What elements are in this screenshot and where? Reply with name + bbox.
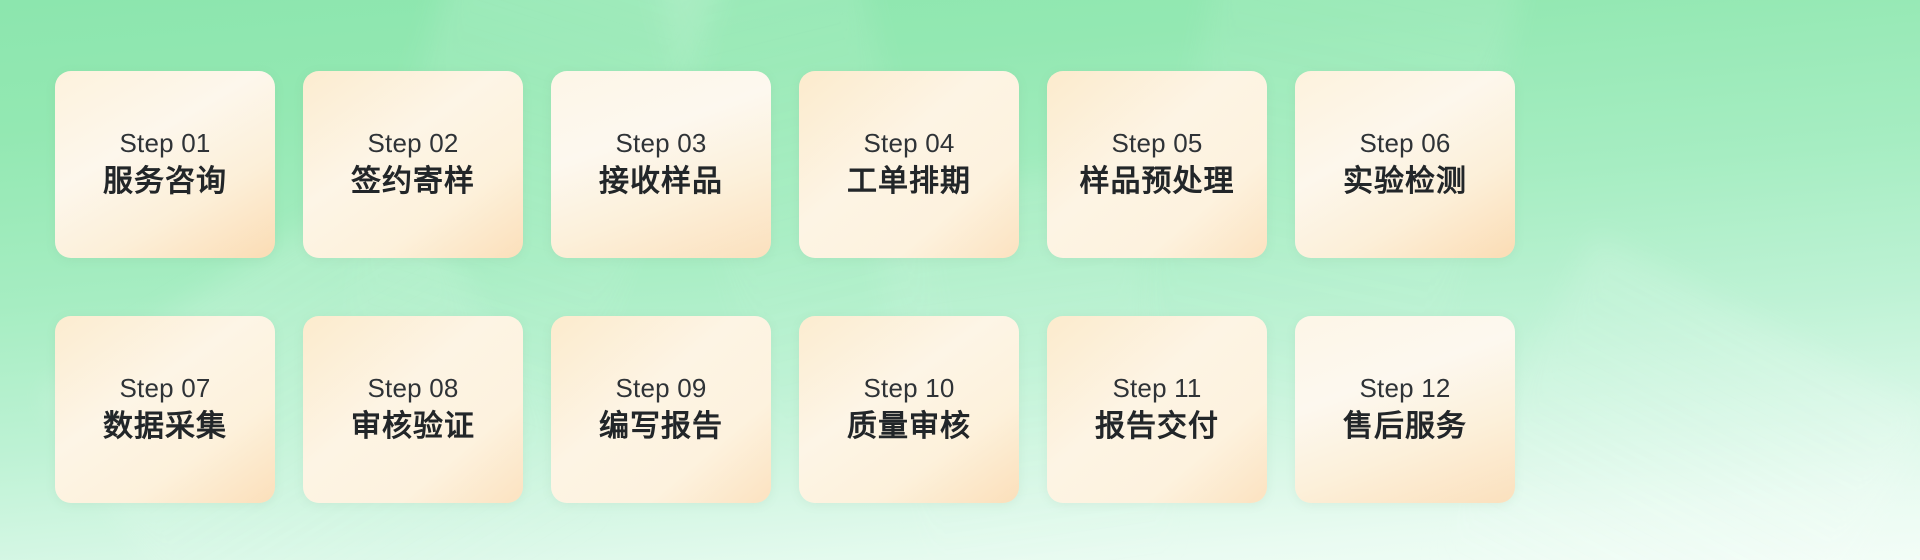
- step-number-label: Step 02: [367, 129, 458, 159]
- step-number-label: Step 04: [863, 129, 954, 159]
- step-card-11[interactable]: Step 11 报告交付: [1047, 316, 1267, 503]
- step-number-label: Step 03: [615, 129, 706, 159]
- step-title-label: 实验检测: [1343, 164, 1467, 200]
- step-number-label: Step 10: [863, 374, 954, 404]
- step-card-02[interactable]: Step 02 签约寄样: [303, 71, 523, 258]
- step-title-label: 报告交付: [1095, 409, 1219, 445]
- step-title-label: 编写报告: [599, 409, 723, 445]
- step-title-label: 质量审核: [847, 409, 971, 445]
- step-number-label: Step 09: [615, 374, 706, 404]
- step-card-06[interactable]: Step 06 实验检测: [1295, 71, 1515, 258]
- step-title-label: 工单排期: [847, 164, 971, 200]
- step-number-label: Step 05: [1111, 129, 1202, 159]
- step-title-label: 服务咨询: [103, 164, 227, 200]
- step-title-label: 数据采集: [103, 409, 227, 445]
- step-flow-stage: Step 01 服务咨询 Step 02 签约寄样 Step 03 接收样品 S…: [0, 0, 1920, 560]
- step-title-label: 审核验证: [351, 409, 475, 445]
- step-card-03[interactable]: Step 03 接收样品: [551, 71, 771, 258]
- step-card-08[interactable]: Step 08 审核验证: [303, 316, 523, 503]
- step-card-09[interactable]: Step 09 编写报告: [551, 316, 771, 503]
- step-card-12[interactable]: Step 12 售后服务: [1295, 316, 1515, 503]
- step-card-04[interactable]: Step 04 工单排期: [799, 71, 1019, 258]
- step-card-05[interactable]: Step 05 样品预处理: [1047, 71, 1267, 258]
- step-card-grid: Step 01 服务咨询 Step 02 签约寄样 Step 03 接收样品 S…: [55, 71, 1865, 503]
- step-number-label: Step 12: [1359, 374, 1450, 404]
- step-title-label: 售后服务: [1343, 409, 1467, 445]
- step-card-01[interactable]: Step 01 服务咨询: [55, 71, 275, 258]
- step-number-label: Step 01: [119, 129, 210, 159]
- step-title-label: 接收样品: [599, 164, 723, 200]
- step-number-label: Step 06: [1359, 129, 1450, 159]
- step-title-label: 签约寄样: [351, 164, 475, 200]
- step-card-07[interactable]: Step 07 数据采集: [55, 316, 275, 503]
- step-number-label: Step 07: [119, 374, 210, 404]
- step-number-label: Step 11: [1112, 374, 1201, 404]
- step-number-label: Step 08: [367, 374, 458, 404]
- step-card-10[interactable]: Step 10 质量审核: [799, 316, 1019, 503]
- step-title-label: 样品预处理: [1080, 164, 1235, 200]
